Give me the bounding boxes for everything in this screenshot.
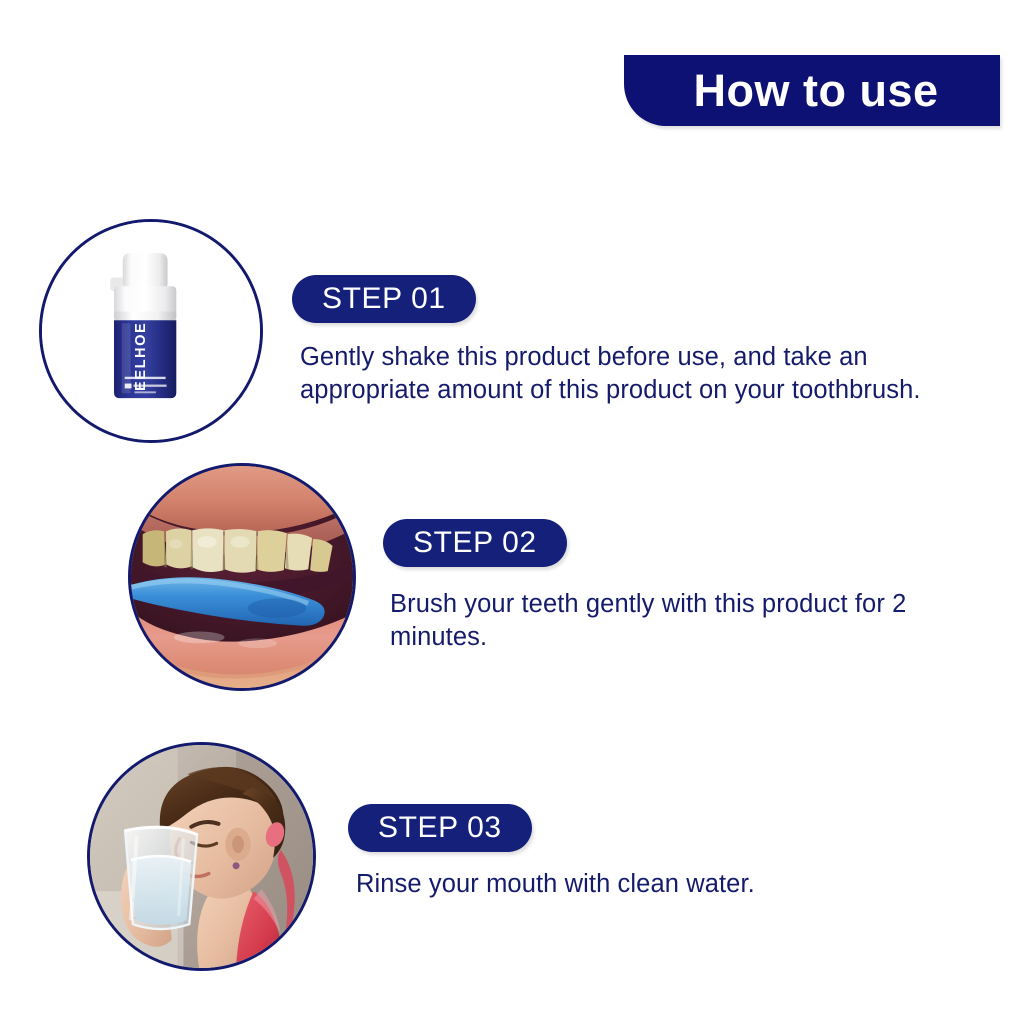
step-description-01: Gently shake this product before use, an…: [300, 341, 940, 406]
svg-text:EELHOE: EELHOE: [133, 322, 149, 391]
step-badge-label: STEP 01: [322, 284, 446, 314]
step-badge-label: STEP 02: [413, 528, 537, 558]
step-badge-label: STEP 03: [378, 813, 502, 843]
step-description-03: Rinse your mouth with clean water.: [356, 868, 916, 901]
header-banner: How to use: [624, 55, 1000, 126]
step-badge-01: STEP 01: [292, 275, 476, 323]
product-bottle-illustration: EELHOE: [42, 222, 260, 440]
step-badge-03: STEP 03: [348, 804, 532, 852]
brushing-teeth-photo: [128, 463, 356, 691]
brushing-teeth-illustration: [131, 466, 353, 688]
product-bottle-photo: EELHOE: [39, 219, 263, 443]
drinking-water-photo: [87, 742, 316, 971]
step-badge-02: STEP 02: [383, 519, 567, 567]
page-title: How to use: [679, 68, 944, 113]
drinking-water-illustration: [90, 745, 313, 968]
step-description-02: Brush your teeth gently with this produc…: [390, 588, 930, 653]
